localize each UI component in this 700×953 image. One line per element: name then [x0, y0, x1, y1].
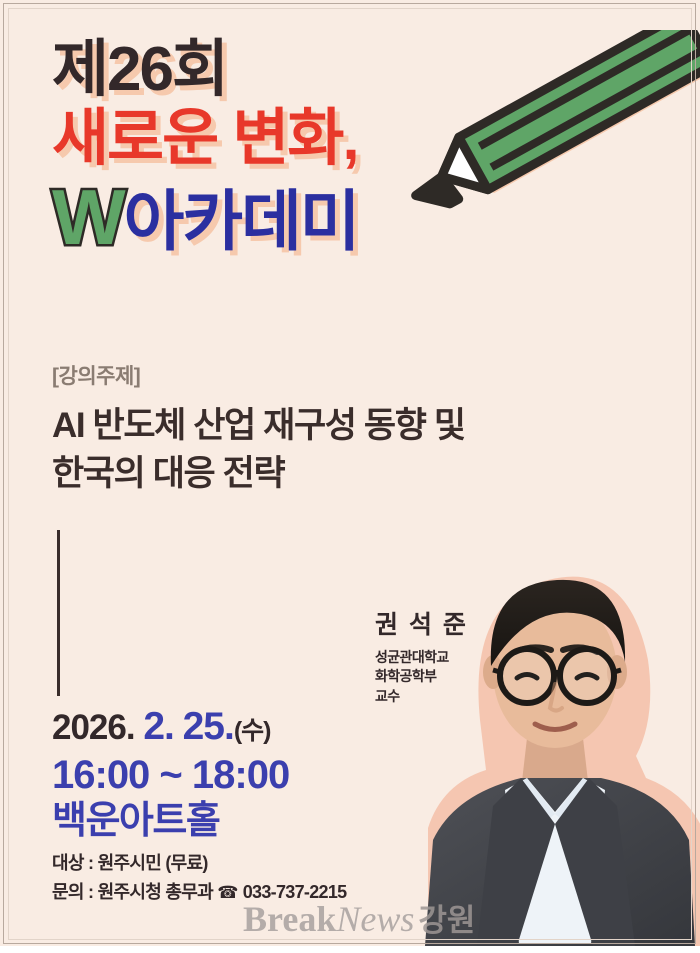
contact-label: 문의 : 원주시청 총무과	[52, 882, 213, 902]
lecture-topic-block: [강의주제] AI 반도체 산업 재구성 동향 및 한국의 대응 전략	[52, 360, 652, 497]
breaknews-watermark: BreakNews강원	[243, 901, 475, 937]
event-poster: 제26회 새로운 변화, W아카데미 [강의주제] AI 반도체 산업 재구성 …	[0, 0, 700, 953]
poster-frame-bottom-strip	[0, 946, 700, 953]
pencil-illustration	[400, 30, 700, 260]
event-time: 16:00 ~ 18:00	[52, 752, 289, 799]
event-date: 2026. 2. 25.(수)	[52, 704, 289, 750]
brand-title: W아카데미	[52, 178, 359, 258]
speaker-portrait	[385, 520, 700, 946]
watermark-break: Break	[243, 899, 336, 939]
event-venue: 백운아트홀	[52, 799, 289, 845]
brand-word-academy: 아카데미	[124, 184, 359, 258]
tagline-title: 새로운 변화,	[52, 107, 359, 170]
topic-title: AI 반도체 산업 재구성 동향 및 한국의 대응 전략	[52, 402, 652, 497]
speaker-affiliation-line-2: 화학공학부	[375, 667, 505, 687]
speaker-info-block: 권 석 준 성균관대학교 화학공학부 교수	[375, 612, 505, 707]
event-day-of-week: (수)	[234, 717, 271, 745]
edition-title: 제26회	[52, 38, 359, 101]
topic-title-line-2: 한국의 대응 전략	[52, 450, 652, 498]
audience-info: 대상 : 원주시민 (무료)	[52, 849, 346, 878]
vertical-divider	[57, 530, 60, 696]
headline-block: 제26회 새로운 변화, W아카데미	[52, 38, 359, 258]
speaker-name: 권 석 준	[375, 612, 505, 640]
topic-label: [강의주제]	[52, 360, 652, 390]
watermark-region: 강원	[418, 903, 475, 938]
brand-mark-w: W	[52, 173, 122, 261]
topic-title-line-1: AI 반도체 산업 재구성 동향 및	[52, 402, 652, 450]
telephone-icon: ☎	[217, 883, 238, 902]
event-day: 25.	[183, 705, 234, 748]
watermark-news: News	[336, 899, 414, 939]
speaker-affiliation-line-1: 성균관대학교	[375, 648, 505, 668]
event-year: 2026.	[52, 708, 135, 747]
event-month: 2.	[143, 705, 174, 748]
speaker-affiliation: 성균관대학교 화학공학부 교수	[375, 648, 505, 708]
speaker-affiliation-line-3: 교수	[375, 687, 505, 707]
schedule-block: 2026. 2. 25.(수) 16:00 ~ 18:00 백운아트홀	[52, 704, 289, 845]
